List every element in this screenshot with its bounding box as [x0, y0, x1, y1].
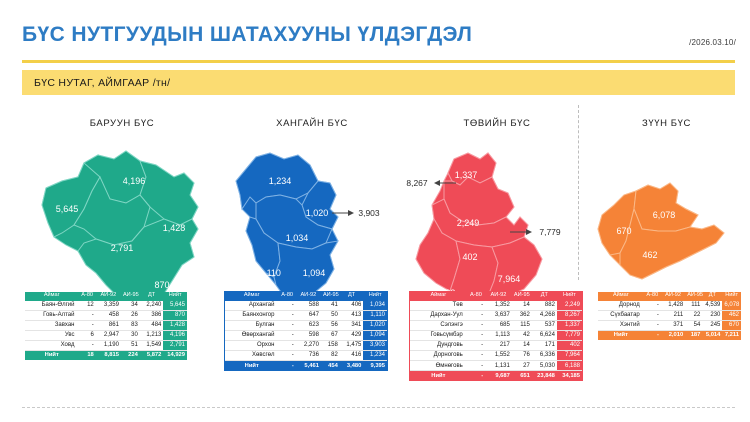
region-khangai: ХАНГАЙН БҮС 1,234 1,020 1,034 1,110: [222, 100, 402, 400]
regions-container: БАРУУН БҮС 4,196 5,645 1,428 2,791: [22, 100, 735, 400]
cell-a80: 12: [78, 301, 95, 311]
table-row: Өмнөговь - 1,131 27 5,030 6,188: [410, 361, 582, 371]
cell-a80: -: [644, 301, 661, 311]
cell-total-a92: 5,461: [296, 361, 321, 370]
map-value-label: 870: [154, 280, 169, 290]
col-a92: АИ-92: [96, 292, 121, 301]
cell-aimag: Дорноговь: [410, 351, 467, 361]
cell-a92: 685: [485, 320, 512, 330]
callout-arrow-icon: [434, 177, 456, 189]
table-header-row: Аймаг А-80 АИ-92 АИ-95 ДТ Нийт: [598, 292, 741, 301]
cell-a80: -: [467, 330, 485, 340]
col-a92: АИ-92: [661, 292, 685, 301]
cell-aimag: Баян-Өлгий: [25, 301, 78, 311]
cell-aimag: Төв: [410, 301, 467, 311]
cell-a92: 623: [296, 320, 321, 330]
table-total-row: Нийт - 9,687 651 23,848 34,185: [410, 371, 582, 380]
cell-a80: -: [467, 301, 485, 311]
cell-total: 7,779: [557, 330, 582, 340]
map-value-label: 4,196: [123, 176, 146, 186]
map-shape-khangai: [222, 133, 402, 305]
cell-a95: 30: [121, 330, 140, 340]
map-value-label: 7,964: [498, 274, 521, 284]
cell-total-a92: 8,815: [96, 351, 121, 360]
table-row: Говь-Алтай - 458 26 386 870: [25, 310, 187, 320]
cell-aimag: Сүхбаатар: [598, 310, 644, 320]
map-value-label: 1,110: [259, 268, 281, 278]
cell-a92: 588: [296, 301, 321, 311]
cell-a92: 211: [661, 310, 685, 320]
cell-dt: 429: [340, 330, 364, 340]
cell-total-dt: 23,848: [532, 371, 557, 380]
table-row: Говьсүмбэр - 1,113 42 6,624 7,779: [410, 330, 582, 340]
cell-a95: 14: [512, 301, 532, 311]
region-table-wrap-zuun: Аймаг А-80 АИ-92 АИ-95 ДТ Нийт Дорнод - …: [598, 292, 741, 340]
cell-aimag: Хөвсгөл: [225, 351, 278, 361]
cell-total: 6,188: [557, 361, 582, 371]
col-dt: ДТ: [532, 292, 557, 301]
map-value-label: 1,034: [286, 233, 309, 243]
cell-a80: -: [78, 310, 95, 320]
cell-aimag: Увс: [25, 330, 78, 340]
cell-a95: 111: [685, 301, 702, 311]
map-value-label: 1,337: [455, 170, 478, 180]
map-value-label: 1,428: [163, 223, 186, 233]
cell-aimag: Сэлэнгэ: [410, 320, 467, 330]
map-value-label: 462: [642, 250, 657, 260]
cell-a95: 83: [121, 320, 140, 330]
table-row: Дундговь - 217 14 171 402: [410, 340, 582, 350]
cell-a92: 458: [96, 310, 121, 320]
cell-aimag: Орхон: [225, 340, 278, 350]
cell-dt: 416: [340, 351, 364, 361]
table-row: Төв - 1,352 14 882 2,249: [410, 301, 582, 311]
col-dt: ДТ: [140, 292, 164, 301]
col-aimag: Аймаг: [410, 292, 467, 301]
cell-aimag: Баянхонгор: [225, 310, 278, 320]
table-row: Сүхбаатар - 211 22 230 462: [598, 310, 741, 320]
cell-aimag: Өмнөговь: [410, 361, 467, 371]
region-table-tuv: Аймаг А-80 АИ-92 АИ-95 ДТ Нийт Төв - 1,3…: [410, 292, 582, 380]
table-row: Ховд - 1,190 51 1,549 2,791: [25, 340, 187, 350]
cell-a92: 3,637: [485, 310, 512, 320]
cell-total: 1,034: [363, 301, 387, 311]
cell-total: 1,337: [557, 320, 582, 330]
cell-a95: 56: [321, 320, 340, 330]
col-a95: АИ-95: [121, 292, 140, 301]
cell-a80: -: [278, 301, 295, 311]
cell-a95: 22: [685, 310, 702, 320]
cell-total-a80: -: [467, 371, 485, 380]
map-value-label: 670: [616, 226, 631, 236]
region-title: БАРУУН БҮС: [22, 118, 222, 129]
region-table-wrap-khangai: Аймаг А-80 АИ-92 АИ-95 ДТ Нийт Архангай …: [225, 292, 387, 370]
cell-total-a95: 224: [121, 351, 140, 360]
map-value-label: 402: [462, 252, 477, 262]
cell-a80: -: [78, 340, 95, 350]
cell-total-label: Нийт: [598, 330, 644, 339]
cell-total: 1,020: [363, 320, 387, 330]
region-zuun: ЗҮҮН БҮС 6,078 670 462: [592, 100, 735, 400]
cell-a80: -: [467, 310, 485, 320]
table-row: Дорноговь - 1,552 76 6,336 7,964: [410, 351, 582, 361]
col-total: Нийт: [163, 292, 187, 301]
cell-a95: 158: [321, 340, 340, 350]
cell-a95: 41: [321, 301, 340, 311]
cell-total: 2,791: [163, 340, 187, 350]
cell-dt: 2,240: [140, 301, 164, 311]
cell-a95: 115: [512, 320, 532, 330]
cell-dt: 230: [702, 310, 722, 320]
cell-a92: 2,947: [96, 330, 121, 340]
cell-aimag: Говь-Алтай: [25, 310, 78, 320]
cell-total-a80: -: [278, 361, 295, 370]
col-a95: АИ-95: [512, 292, 532, 301]
cell-a92: 861: [96, 320, 121, 330]
map-callout-label: 3,903: [358, 208, 379, 218]
cell-a80: -: [278, 330, 295, 340]
cell-a95: 67: [321, 330, 340, 340]
cell-dt: 413: [340, 310, 364, 320]
col-a80: А-80: [644, 292, 661, 301]
region-title: ЗҮҮН БҮС: [598, 118, 735, 129]
cell-a92: 647: [296, 310, 321, 320]
region-table-baruun: Аймаг А-80 АИ-92 АИ-95 ДТ Нийт Баян-Өлги…: [25, 292, 187, 360]
cell-total: 1,110: [363, 310, 387, 320]
region-table-wrap-tuv: Аймаг А-80 АИ-92 АИ-95 ДТ Нийт Төв - 1,3…: [410, 292, 582, 380]
region-table-zuun: Аймаг А-80 АИ-92 АИ-95 ДТ Нийт Дорнод - …: [598, 292, 741, 340]
col-total: Нийт: [363, 292, 387, 301]
col-a92: АИ-92: [485, 292, 512, 301]
col-dt: ДТ: [340, 292, 364, 301]
cell-dt: 4,268: [532, 310, 557, 320]
table-total-row: Нийт 18 8,815 224 5,872 14,929: [25, 351, 187, 360]
table-total-row: Нийт - 5,461 454 3,480 9,395: [225, 361, 387, 370]
cell-a80: -: [644, 310, 661, 320]
cell-aimag: Говьсүмбэр: [410, 330, 467, 340]
cell-a92: 3,359: [96, 301, 121, 311]
table-row: Дорнод - 1,428 111 4,539 6,078: [598, 301, 741, 311]
cell-a95: 362: [512, 310, 532, 320]
callout-arrow-icon: [332, 207, 354, 219]
map-value-label: 1,020: [306, 208, 329, 218]
cell-dt: 1,475: [340, 340, 364, 350]
cell-a92: 1,428: [661, 301, 685, 311]
region-title: ХАНГАЙН БҮС: [222, 118, 402, 129]
cell-dt: 5,030: [532, 361, 557, 371]
infographic-page: БҮС НУТГУУДЫН ШАТАХУУНЫ ҮЛДЭГДЭЛ /2026.0…: [0, 0, 750, 422]
table-row: Завхан - 861 83 484 1,428: [25, 320, 187, 330]
region-map-tuv: 1,337 2,249 402 7,964 6,188 8,267 7,779: [402, 133, 592, 305]
cell-total-a92: 2,010: [661, 330, 685, 339]
cell-dt: 6,336: [532, 351, 557, 361]
cell-aimag: Ховд: [25, 340, 78, 350]
region-table-wrap-baruun: Аймаг А-80 АИ-92 АИ-95 ДТ Нийт Баян-Өлги…: [25, 292, 187, 360]
table-row: Өвөрхангай - 598 67 429 1,094: [225, 330, 387, 340]
cell-a95: 26: [121, 310, 140, 320]
callout-arrow-icon: [510, 226, 532, 238]
cell-a95: 54: [685, 320, 702, 330]
cell-total-dt: 5,014: [702, 330, 722, 339]
cell-aimag: Өвөрхангай: [225, 330, 278, 340]
cell-total: 6,078: [722, 301, 741, 311]
col-dt: ДТ: [702, 292, 722, 301]
page-header: БҮС НУТГУУДЫН ШАТАХУУНЫ ҮЛДЭГДЭЛ /2026.0…: [22, 24, 736, 45]
cell-dt: 341: [340, 320, 364, 330]
cell-total-a95: 187: [685, 330, 702, 339]
cell-a95: 34: [121, 301, 140, 311]
table-row: Хэнтий - 371 54 245 670: [598, 320, 741, 330]
col-a92: АИ-92: [296, 292, 321, 301]
cell-dt: 1,213: [140, 330, 164, 340]
col-aimag: Аймаг: [598, 292, 644, 301]
cell-a80: -: [78, 320, 95, 330]
cell-total: 1,234: [363, 351, 387, 361]
table-header-row: Аймаг А-80 АИ-92 АИ-95 ДТ Нийт: [410, 292, 582, 301]
table-row: Хөвсгөл - 736 82 416 1,234: [225, 351, 387, 361]
cell-dt: 537: [532, 320, 557, 330]
cell-dt: 171: [532, 340, 557, 350]
col-a80: А-80: [78, 292, 95, 301]
cell-total-sum: 34,185: [557, 371, 582, 380]
cell-a95: 76: [512, 351, 532, 361]
region-tuv: ТӨВИЙН БҮС 1,337 2,249 402: [402, 100, 592, 400]
cell-total-label: Нийт: [410, 371, 467, 380]
map-value-label: 2,791: [111, 243, 134, 253]
cell-dt: 6,624: [532, 330, 557, 340]
cell-a80: -: [644, 320, 661, 330]
cell-a80: -: [467, 361, 485, 371]
cell-a92: 598: [296, 330, 321, 340]
cell-total-sum: 14,929: [163, 351, 187, 360]
cell-dt: 4,539: [702, 301, 722, 311]
col-a80: А-80: [467, 292, 485, 301]
cell-total-dt: 3,480: [340, 361, 364, 370]
table-row: Увс 6 2,947 30 1,213 4,196: [25, 330, 187, 340]
cell-a95: 14: [512, 340, 532, 350]
page-title: БҮС НУТГУУДЫН ШАТАХУУНЫ ҮЛДЭГДЭЛ: [22, 24, 736, 45]
region-baruun: БАРУУН БҮС 4,196 5,645 1,428 2,791: [22, 100, 222, 400]
col-total: Нийт: [722, 292, 741, 301]
cell-a80: -: [467, 351, 485, 361]
cell-total-dt: 5,872: [140, 351, 164, 360]
table-row: Баян-Өлгий 12 3,359 34 2,240 5,645: [25, 301, 187, 311]
cell-total-sum: 9,395: [363, 361, 387, 370]
cell-aimag: Дархан-Уул: [410, 310, 467, 320]
section-bar: БҮС НУТАГ, АЙМГААР /тн/: [22, 70, 735, 95]
table-row: Баянхонгор - 647 50 413 1,110: [225, 310, 387, 320]
header-divider: [22, 60, 735, 63]
cell-total-label: Нийт: [25, 351, 78, 360]
cell-dt: 882: [532, 301, 557, 311]
cell-a80: -: [278, 310, 295, 320]
cell-total: 1,428: [163, 320, 187, 330]
cell-aimag: Дорнод: [598, 301, 644, 311]
map-shape-baruun: [22, 133, 222, 305]
cell-total-a95: 454: [321, 361, 340, 370]
cell-total-label: Нийт: [225, 361, 278, 370]
col-aimag: Аймаг: [225, 292, 278, 301]
cell-dt: 406: [340, 301, 364, 311]
cell-dt: 386: [140, 310, 164, 320]
col-a80: А-80: [278, 292, 295, 301]
cell-total: 3,903: [363, 340, 387, 350]
col-a95: АИ-95: [685, 292, 702, 301]
region-table-khangai: Аймаг А-80 АИ-92 АИ-95 ДТ Нийт Архангай …: [225, 292, 387, 370]
cell-total: 402: [557, 340, 582, 350]
region-map-khangai: 1,234 1,020 1,034 1,110 1,094 3,903: [222, 133, 402, 305]
cell-a80: -: [278, 340, 295, 350]
map-callout-label: 7,779: [539, 227, 560, 237]
map-value-label: 1,234: [269, 176, 292, 186]
cell-a95: 51: [121, 340, 140, 350]
cell-total: 7,964: [557, 351, 582, 361]
cell-a95: 42: [512, 330, 532, 340]
cell-total: 670: [722, 320, 741, 330]
cell-total-a92: 9,687: [485, 371, 512, 380]
cell-dt: 484: [140, 320, 164, 330]
cell-a92: 1,131: [485, 361, 512, 371]
cell-aimag: Архангай: [225, 301, 278, 311]
cell-total-a95: 651: [512, 371, 532, 380]
table-row: Дархан-Уул - 3,637 362 4,268 8,267: [410, 310, 582, 320]
bottom-divider: [22, 407, 735, 408]
region-title: ТӨВИЙН БҮС: [402, 118, 592, 129]
col-aimag: Аймаг: [25, 292, 78, 301]
map-value-label: 5,645: [56, 204, 79, 214]
cell-a92: 371: [661, 320, 685, 330]
map-value-label: 2,249: [457, 218, 480, 228]
cell-a95: 27: [512, 361, 532, 371]
cell-a92: 1,352: [485, 301, 512, 311]
cell-a92: 1,552: [485, 351, 512, 361]
cell-a92: 2,270: [296, 340, 321, 350]
table-header-row: Аймаг А-80 АИ-92 АИ-95 ДТ Нийт: [225, 292, 387, 301]
cell-total: 2,249: [557, 301, 582, 311]
cell-aimag: Завхан: [25, 320, 78, 330]
cell-aimag: Хэнтий: [598, 320, 644, 330]
cell-a92: 1,190: [96, 340, 121, 350]
map-value-label: 6,078: [653, 210, 676, 220]
cell-a92: 217: [485, 340, 512, 350]
cell-total: 8,267: [557, 310, 582, 320]
cell-a80: -: [467, 340, 485, 350]
cell-a95: 82: [321, 351, 340, 361]
cell-total: 4,196: [163, 330, 187, 340]
cell-a95: 50: [321, 310, 340, 320]
table-row: Архангай - 588 41 406 1,034: [225, 301, 387, 311]
map-callout-label: 8,267: [406, 178, 427, 188]
region-map-baruun: 4,196 5,645 1,428 2,791 870: [22, 133, 222, 305]
cell-total: 462: [722, 310, 741, 320]
cell-total: 1,094: [363, 330, 387, 340]
cell-a92: 736: [296, 351, 321, 361]
cell-total-a80: 18: [78, 351, 95, 360]
col-a95: АИ-95: [321, 292, 340, 301]
cell-total-a80: -: [644, 330, 661, 339]
cell-a80: -: [278, 351, 295, 361]
table-row: Сэлэнгэ - 685 115 537 1,337: [410, 320, 582, 330]
cell-a92: 1,113: [485, 330, 512, 340]
table-total-row: Нийт - 2,010 187 5,014 7,211: [598, 330, 741, 339]
cell-dt: 1,549: [140, 340, 164, 350]
region-map-zuun: 6,078 670 462: [592, 133, 735, 305]
cell-aimag: Булган: [225, 320, 278, 330]
section-bar-label: БҮС НУТАГ, АЙМГААР /тн/: [22, 77, 170, 89]
map-value-label: 1,094: [303, 268, 326, 278]
report-date: /2026.03.10/: [689, 38, 736, 47]
table-row: Орхон - 2,270 158 1,475 3,903: [225, 340, 387, 350]
cell-a80: -: [278, 320, 295, 330]
table-row: Булган - 623 56 341 1,020: [225, 320, 387, 330]
cell-aimag: Дундговь: [410, 340, 467, 350]
cell-a80: 6: [78, 330, 95, 340]
cell-total: 870: [163, 310, 187, 320]
cell-a80: -: [467, 320, 485, 330]
col-total: Нийт: [557, 292, 582, 301]
table-header-row: Аймаг А-80 АИ-92 АИ-95 ДТ Нийт: [25, 292, 187, 301]
cell-total: 5,645: [163, 301, 187, 311]
cell-dt: 245: [702, 320, 722, 330]
cell-total-sum: 7,211: [722, 330, 741, 339]
